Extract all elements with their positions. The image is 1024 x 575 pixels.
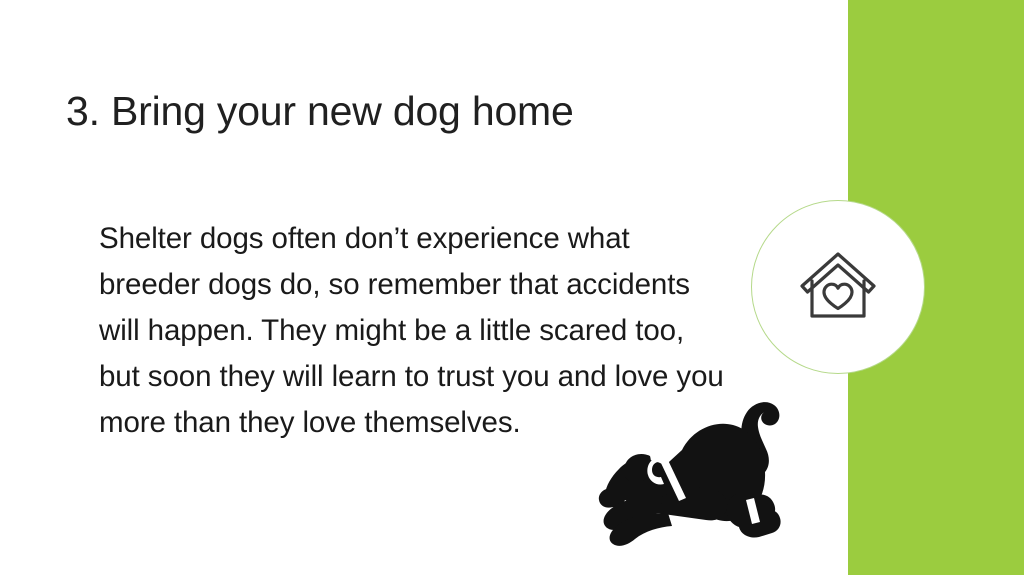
page-title: 3. Bring your new dog home — [66, 89, 786, 135]
playful-dog-silhouette-icon — [594, 386, 788, 550]
slide-canvas: 3. Bring your new dog home Shelter dogs … — [0, 0, 1024, 575]
house-with-heart-icon — [796, 247, 880, 327]
icon-badge — [751, 200, 925, 374]
